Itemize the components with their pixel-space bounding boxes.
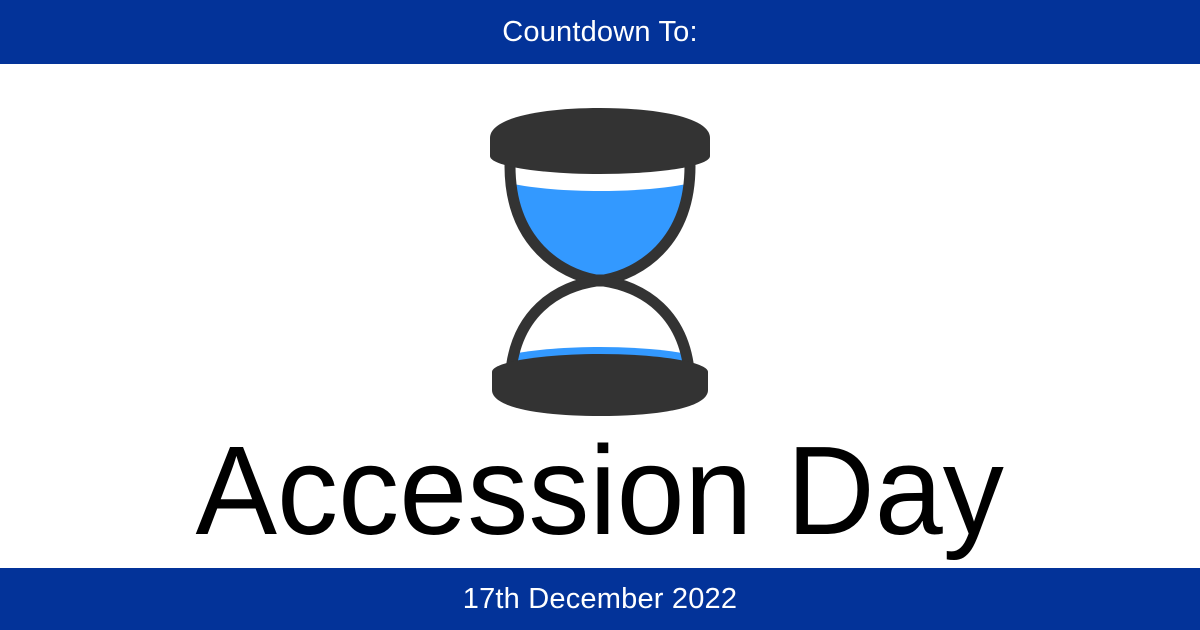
poster-stage: Accession Day xyxy=(0,64,1200,568)
hourglass-top-cap xyxy=(490,108,710,174)
countdown-header-bar: Countdown To: xyxy=(0,0,1200,64)
countdown-date-label: 17th December 2022 xyxy=(463,585,737,614)
hourglass-container xyxy=(0,104,1200,416)
hourglass-icon xyxy=(484,104,716,416)
countdown-poster: Countdown To: xyxy=(0,0,1200,630)
event-title-container: Accession Day xyxy=(0,428,1200,554)
countdown-footer-bar: 17th December 2022 xyxy=(0,568,1200,630)
event-title: Accession Day xyxy=(196,428,1004,554)
hourglass-bottom-cap xyxy=(492,354,708,416)
countdown-header-label: Countdown To: xyxy=(502,18,698,47)
